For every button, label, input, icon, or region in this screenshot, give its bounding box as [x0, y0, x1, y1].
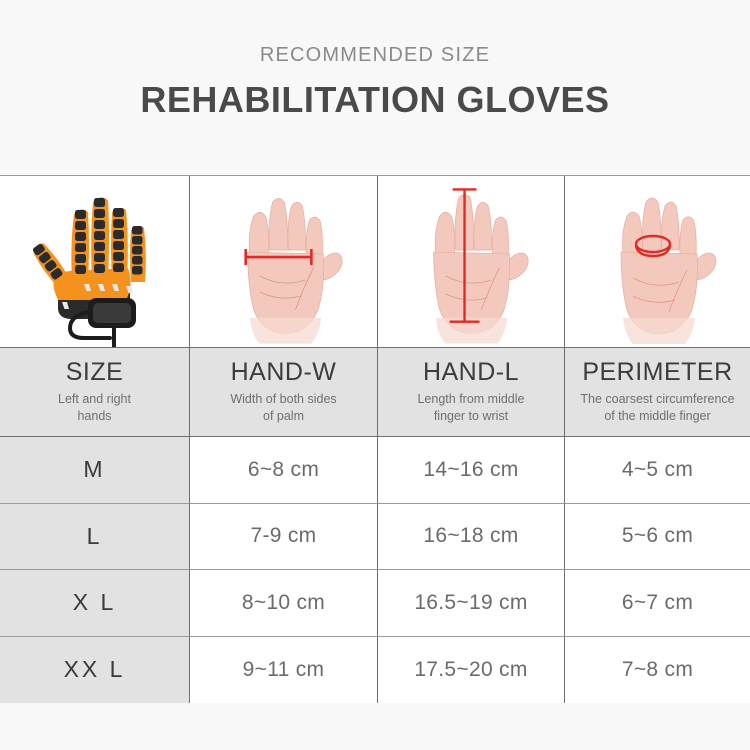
hand-w-value: 9~11 cm — [243, 658, 325, 682]
hand-width-diagram-icon — [190, 176, 377, 347]
size-cell: L — [0, 504, 190, 571]
size-cell: X L — [0, 570, 190, 637]
hand-length-diagram-icon — [378, 176, 564, 347]
table-row: XX L 9~11 cm 17.5~20 cm 7~8 cm — [0, 637, 750, 704]
page-header: RECOMMENDED SIZE REHABILITATION GLOVES — [0, 0, 750, 121]
size-cell: M — [0, 437, 190, 504]
perimeter-value: 5~6 cm — [622, 524, 693, 548]
column-title: HAND-W — [231, 359, 337, 387]
column-title: HAND-L — [423, 359, 519, 387]
hand-l-cell: 16.5~19 cm — [378, 570, 565, 637]
hand-l-value: 16.5~19 cm — [414, 591, 527, 615]
finger-perimeter-illustration-cell — [565, 176, 750, 348]
column-description-line-2: of the middle finger — [604, 409, 710, 423]
hand-w-value: 8~10 cm — [242, 591, 325, 615]
table-row: L 7-9 cm 16~18 cm 5~6 cm — [0, 504, 750, 571]
column-description-line-2: finger to wrist — [434, 409, 508, 423]
hand-w-cell: 8~10 cm — [190, 570, 378, 637]
column-description: The coarsest circumference of the middle… — [580, 391, 734, 425]
page-subtitle: RECOMMENDED SIZE — [0, 44, 750, 67]
hand-l-cell: 17.5~20 cm — [378, 637, 565, 704]
perimeter-value: 4~5 cm — [622, 458, 693, 482]
column-description: Width of both sides of palm — [230, 391, 336, 425]
size-label: X L — [73, 589, 117, 616]
column-header-size: SIZE Left and right hands — [0, 348, 190, 437]
column-header-row: SIZE Left and right hands HAND-W Width o… — [0, 348, 750, 437]
column-title: SIZE — [66, 359, 124, 387]
size-label: M — [83, 456, 105, 483]
hand-l-value: 14~16 cm — [423, 458, 518, 482]
column-description-line-2: of palm — [263, 409, 304, 423]
hand-width-illustration-cell — [190, 176, 378, 348]
column-description: Length from middle finger to wrist — [417, 391, 524, 425]
size-label: L — [87, 523, 103, 550]
hand-w-cell: 9~11 cm — [190, 637, 378, 704]
column-description-line-2: hands — [77, 409, 111, 423]
column-header-perimeter: PERIMETER The coarsest circumference of … — [565, 348, 750, 437]
column-description: Left and right hands — [58, 391, 131, 425]
perimeter-cell: 4~5 cm — [565, 437, 750, 504]
hand-w-cell: 7-9 cm — [190, 504, 378, 571]
size-chart-table: SIZE Left and right hands HAND-W Width o… — [0, 175, 750, 703]
illustration-row — [0, 176, 750, 348]
hand-l-cell: 14~16 cm — [378, 437, 565, 504]
column-description-line-1: Width of both sides — [230, 392, 336, 406]
column-header-hand-l: HAND-L Length from middle finger to wris… — [378, 348, 565, 437]
size-label: XX L — [64, 656, 126, 683]
hand-l-value: 17.5~20 cm — [414, 658, 527, 682]
hand-w-cell: 6~8 cm — [190, 437, 378, 504]
hand-length-illustration-cell — [378, 176, 565, 348]
hand-w-value: 6~8 cm — [248, 458, 319, 482]
finger-perimeter-diagram-icon — [565, 176, 750, 347]
hand-l-value: 16~18 cm — [423, 524, 518, 548]
column-description-line-1: Length from middle — [417, 392, 524, 406]
page-title: REHABILITATION GLOVES — [0, 79, 750, 121]
size-cell: XX L — [0, 637, 190, 704]
rehabilitation-glove-icon — [0, 176, 189, 347]
table-row: M 6~8 cm 14~16 cm 4~5 cm — [0, 437, 750, 504]
column-description-line-1: Left and right — [58, 392, 131, 406]
hand-w-value: 7-9 cm — [251, 524, 317, 548]
column-title: PERIMETER — [582, 359, 732, 387]
hand-l-cell: 16~18 cm — [378, 504, 565, 571]
perimeter-value: 7~8 cm — [622, 658, 693, 682]
perimeter-cell: 5~6 cm — [565, 504, 750, 571]
table-row: X L 8~10 cm 16.5~19 cm 6~7 cm — [0, 570, 750, 637]
perimeter-cell: 7~8 cm — [565, 637, 750, 704]
perimeter-cell: 6~7 cm — [565, 570, 750, 637]
glove-illustration-cell — [0, 176, 190, 348]
column-header-hand-w: HAND-W Width of both sides of palm — [190, 348, 378, 437]
perimeter-value: 6~7 cm — [622, 591, 693, 615]
column-description-line-1: The coarsest circumference — [580, 392, 734, 406]
